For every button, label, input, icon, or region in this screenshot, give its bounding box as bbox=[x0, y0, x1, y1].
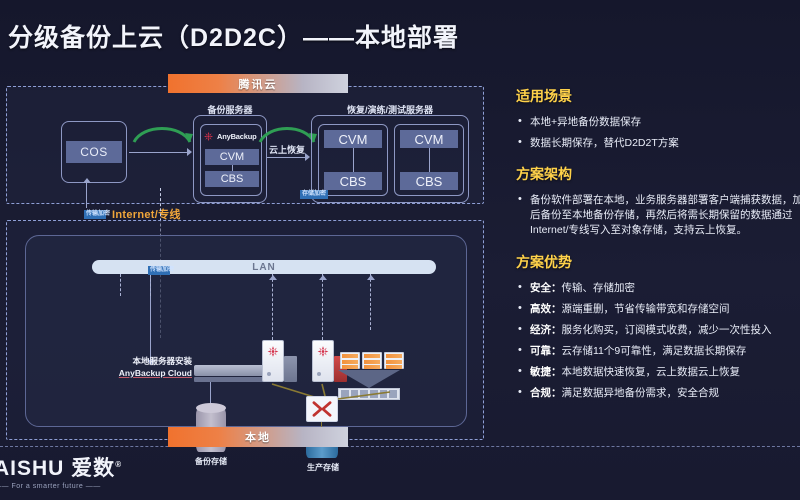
transport-encryption-tag: 传输加密 bbox=[84, 210, 106, 219]
anybackup-label: AnyBackup bbox=[217, 132, 256, 141]
brand-en: AISHU bbox=[0, 457, 64, 480]
list-item: 合规：满足数据异地备份需求，安全合规 bbox=[516, 386, 800, 400]
advantage-text: 源端重删，节省传输带宽和存储空间 bbox=[562, 303, 730, 315]
recovery-box-2: CVM CBS bbox=[394, 124, 464, 196]
recovery-cvm-1: CVM bbox=[324, 130, 382, 148]
section-architecture-heading: 方案架构 bbox=[516, 164, 800, 184]
switch-converge-lines bbox=[250, 370, 430, 410]
lan-link-4-arrow bbox=[319, 275, 327, 280]
backup-server-inner: AnyBackup CVM CBS bbox=[200, 124, 262, 196]
lan-link-1 bbox=[120, 274, 121, 296]
lan-bar: LAN bbox=[92, 260, 436, 274]
backup-cvm-chip: CVM bbox=[205, 149, 259, 165]
rack-unit-3 bbox=[384, 352, 404, 369]
page-title: 分级备份上云（D2D2C）——本地部署 bbox=[8, 18, 459, 54]
backup-server-group: 备份服务器 bbox=[193, 115, 267, 203]
recovery-link-2 bbox=[429, 148, 430, 172]
section-architecture: 方案架构 备份软件部署在本地，业务服务器部署客户端捕获数据，加密后备份至本地备份… bbox=[516, 164, 800, 238]
advantage-text: 传输、存储加密 bbox=[562, 282, 636, 294]
cos-uplink-arrow bbox=[83, 178, 91, 183]
section-advantages-heading: 方案优势 bbox=[516, 252, 800, 272]
recovery-cbs-2: CBS bbox=[400, 172, 458, 190]
advantage-text: 本地数据快速恢复，云上数据云上恢复 bbox=[562, 366, 741, 378]
backup-storage-label: 备份存储 bbox=[178, 456, 244, 467]
bottom-divider bbox=[0, 446, 800, 447]
arrow-head-recovery bbox=[305, 153, 310, 161]
cloud-restore-label: 云上恢复 bbox=[269, 143, 305, 156]
slide-root: 分级备份上云（D2D2C）——本地部署 COS 备份服务器 bbox=[0, 0, 800, 500]
lan-link-5-arrow bbox=[367, 275, 375, 280]
rack-unit-2 bbox=[362, 352, 382, 369]
flow-backup-to-recovery bbox=[267, 157, 305, 158]
advantage-key: 经济： bbox=[530, 324, 562, 336]
recovery-link-1 bbox=[353, 148, 354, 172]
green-arc-icon-1 bbox=[131, 121, 193, 143]
lan-link-4 bbox=[322, 274, 323, 340]
flow-cos-to-backup bbox=[129, 152, 187, 153]
registered-mark: ® bbox=[115, 460, 122, 469]
recovery-server-group: 恢复/演练/测试服务器 CVM CBS CVM CBS bbox=[311, 115, 469, 203]
recovery-cbs-1: CBS bbox=[324, 172, 382, 190]
brand-tagline: For a smarter future bbox=[0, 483, 122, 490]
lan-link-2b bbox=[150, 274, 151, 296]
brand-cn: 爱数 bbox=[71, 457, 115, 480]
rack-unit-1 bbox=[340, 352, 360, 369]
recovery-box-1: CVM CBS bbox=[318, 124, 388, 196]
local-server-label-line2: AnyBackup Cloud bbox=[88, 367, 192, 379]
list-item: 可靠：云存储11个9可靠性，满足数据长期保存 bbox=[516, 344, 800, 358]
anybackup-badge: AnyBackup bbox=[203, 128, 261, 144]
advantages-list: 安全：传输、存储加密 高效：源端重删，节省传输带宽和存储空间 经济：服务化购买，… bbox=[516, 281, 800, 400]
local-server-label: 本地服务器安装 AnyBackup Cloud bbox=[88, 355, 192, 379]
storage-encryption-tag: 存储加密 bbox=[300, 190, 328, 199]
backup-cbs-chip: CBS bbox=[205, 171, 259, 187]
recovery-server-group-title: 恢复/演练/测试服务器 bbox=[312, 103, 468, 116]
list-item: 安全：传输、存储加密 bbox=[516, 281, 800, 295]
production-storage-label: 生产存储 bbox=[290, 462, 356, 473]
list-item: 本地+异地备份数据保存 bbox=[516, 115, 800, 129]
list-item: 备份软件部署在本地，业务服务器部署客户端捕获数据，加密后备份至本地备份存储，再然… bbox=[516, 193, 800, 238]
architecture-list: 备份软件部署在本地，业务服务器部署客户端捕获数据，加密后备份至本地备份存储，再然… bbox=[516, 193, 800, 238]
brand-logo-text: AISHU 爱数® bbox=[0, 452, 122, 482]
arrow-head-backup bbox=[187, 148, 192, 156]
scenarios-list: 本地+异地备份数据保存 数据长期保存，替代D2D2T方案 bbox=[516, 115, 800, 150]
section-advantages: 方案优势 安全：传输、存储加密 高效：源端重删，节省传输带宽和存储空间 经济：服… bbox=[516, 252, 800, 400]
advantage-key: 可靠： bbox=[530, 345, 562, 357]
network-switch-icon bbox=[306, 396, 338, 422]
list-item: 敏捷：本地数据快速恢复，云上数据云上恢复 bbox=[516, 365, 800, 379]
anybackup-logo-icon bbox=[203, 131, 214, 142]
cloud-region: COS 备份服务器 bbox=[6, 86, 484, 204]
green-arc-icon-2 bbox=[257, 121, 317, 143]
cloud-zone-bar: 腾讯云 bbox=[168, 74, 348, 93]
list-item: 数据长期保存，替代D2D2T方案 bbox=[516, 136, 800, 150]
switch-arrows-icon bbox=[311, 400, 333, 418]
advantage-text: 满足数据异地备份需求，安全合规 bbox=[562, 387, 720, 399]
advantage-key: 高效： bbox=[530, 303, 562, 315]
cos-uplink-line bbox=[86, 182, 87, 208]
architecture-diagram: COS 备份服务器 bbox=[0, 70, 492, 460]
server-logo-icon-1 bbox=[266, 345, 280, 358]
transport-encryption-tag-2: 传输加密 bbox=[148, 266, 170, 275]
info-panel: 适用场景 本地+异地备份数据保存 数据长期保存，替代D2D2T方案 方案架构 备… bbox=[516, 86, 800, 414]
advantage-text: 服务化购买，订阅模式收费，减少一次性投入 bbox=[562, 324, 772, 336]
title-bar: 分级备份上云（D2D2C）——本地部署 bbox=[0, 18, 800, 60]
section-scenarios-heading: 适用场景 bbox=[516, 86, 800, 106]
brand-logo: AISHU 爱数® For a smarter future bbox=[0, 452, 122, 490]
advantage-key: 合规： bbox=[530, 387, 562, 399]
local-zone-bar: 本地 bbox=[168, 427, 348, 447]
backup-server-group-title: 备份服务器 bbox=[194, 103, 266, 116]
advantage-text: 云存储11个9可靠性，满足数据长期保存 bbox=[562, 345, 747, 357]
lan-link-3 bbox=[272, 274, 273, 340]
local-server-label-line1: 本地服务器安装 bbox=[88, 355, 192, 367]
advantage-key: 敏捷： bbox=[530, 366, 562, 378]
cos-box: COS bbox=[61, 121, 127, 183]
server-logo-icon-2 bbox=[316, 345, 330, 358]
section-scenarios: 适用场景 本地+异地备份数据保存 数据长期保存，替代D2D2T方案 bbox=[516, 86, 800, 150]
list-item: 经济：服务化购买，订阅模式收费，减少一次性投入 bbox=[516, 323, 800, 337]
lan-link-3-arrow bbox=[269, 275, 277, 280]
recovery-cvm-2: CVM bbox=[400, 130, 458, 148]
advantage-key: 安全： bbox=[530, 282, 562, 294]
lan-link-5 bbox=[370, 274, 371, 330]
cos-label: COS bbox=[66, 141, 122, 163]
list-item: 高效：源端重删，节省传输带宽和存储空间 bbox=[516, 302, 800, 316]
